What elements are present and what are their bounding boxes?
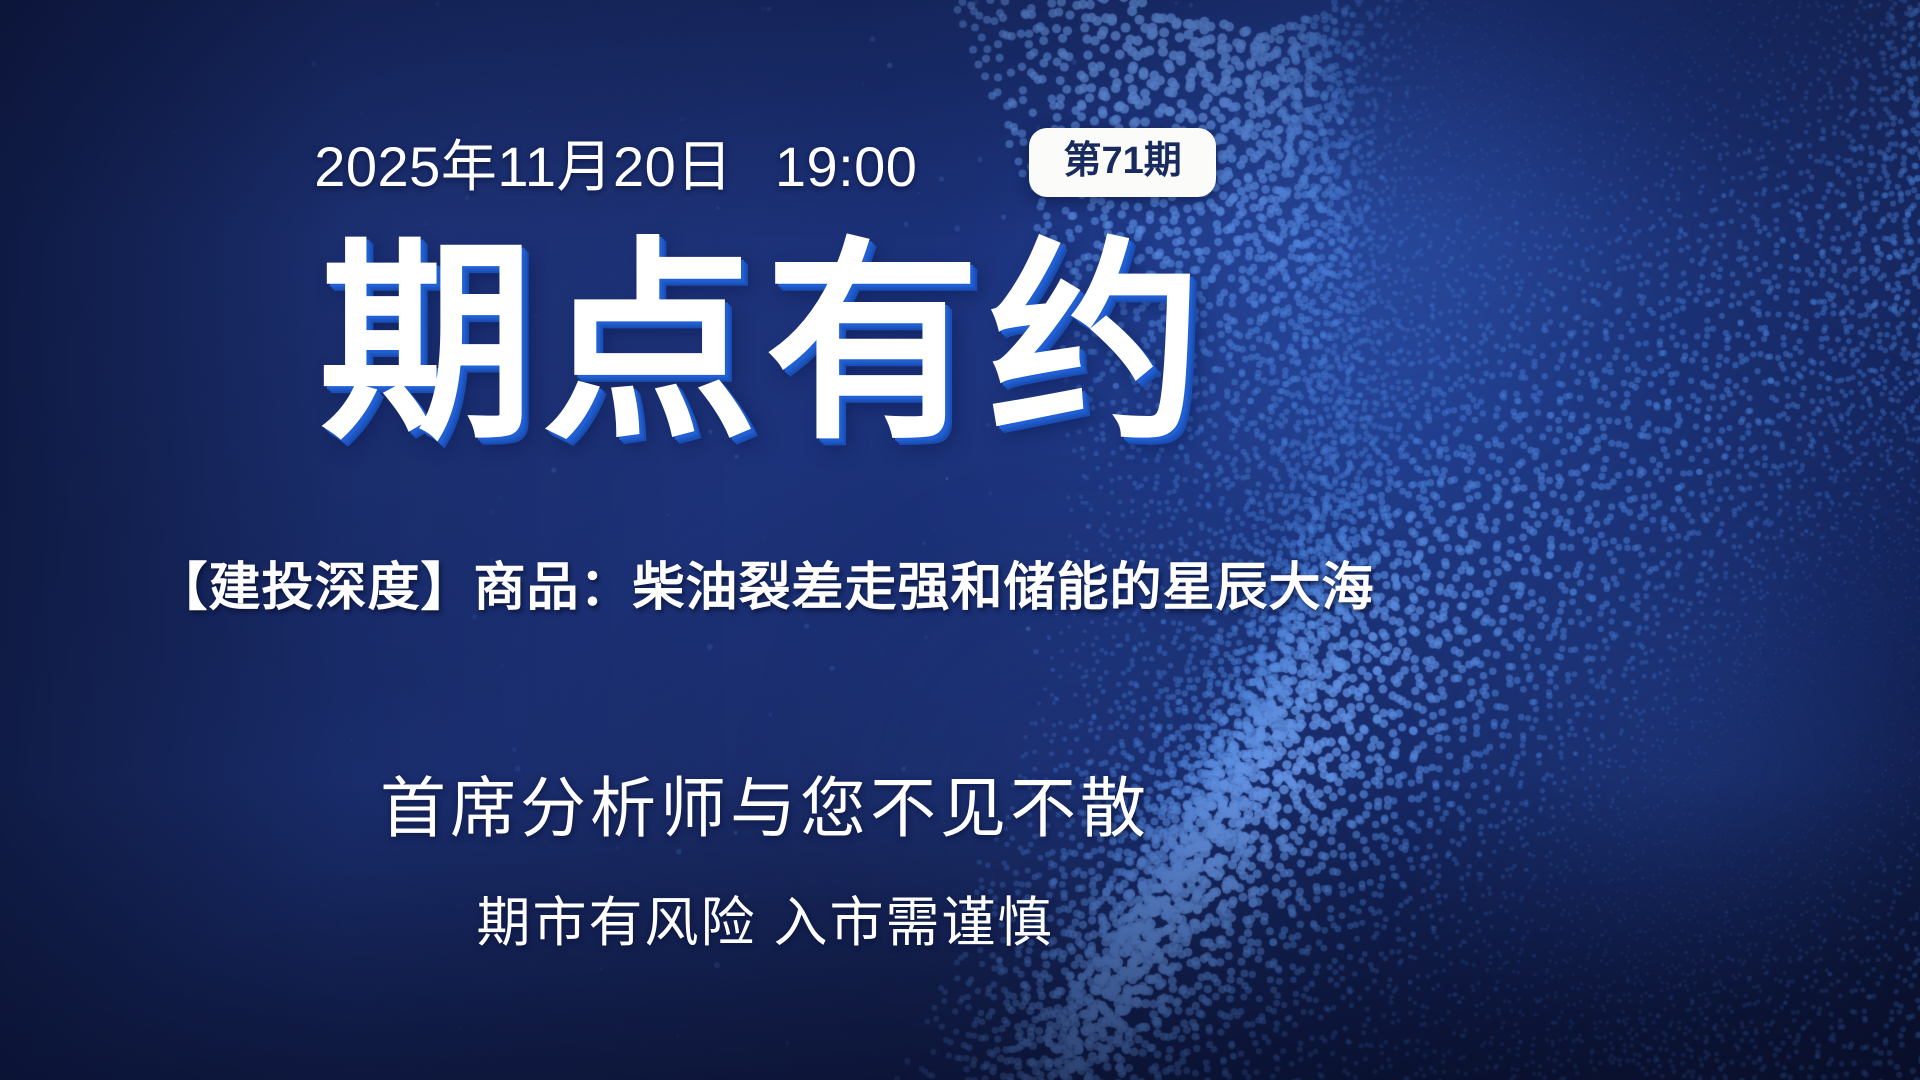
event-datetime: 2025年11月20日 19:00 <box>314 122 917 203</box>
poster-content: 2025年11月20日 19:00 第71期 期点有约 【建投深度】商品：柴油裂… <box>0 0 1920 1080</box>
event-time: 19:00 <box>775 135 918 198</box>
header-row: 2025年11月20日 19:00 第71期 <box>0 122 1530 203</box>
risk-disclaimer: 期市有风险 入市需谨慎 <box>0 878 1530 957</box>
issue-number-badge: 第71期 <box>1029 128 1215 197</box>
tagline-text: 首席分析师与您不见不散 <box>0 755 1530 851</box>
episode-subtitle: 【建投深度】商品：柴油裂差走强和储能的星辰大海 <box>0 545 1530 620</box>
poster-canvas: 2025年11月20日 19:00 第71期 期点有约 【建投深度】商品：柴油裂… <box>0 0 1920 1080</box>
program-title: 期点有约 <box>0 236 1530 451</box>
event-date: 2025年11月20日 <box>314 135 733 198</box>
